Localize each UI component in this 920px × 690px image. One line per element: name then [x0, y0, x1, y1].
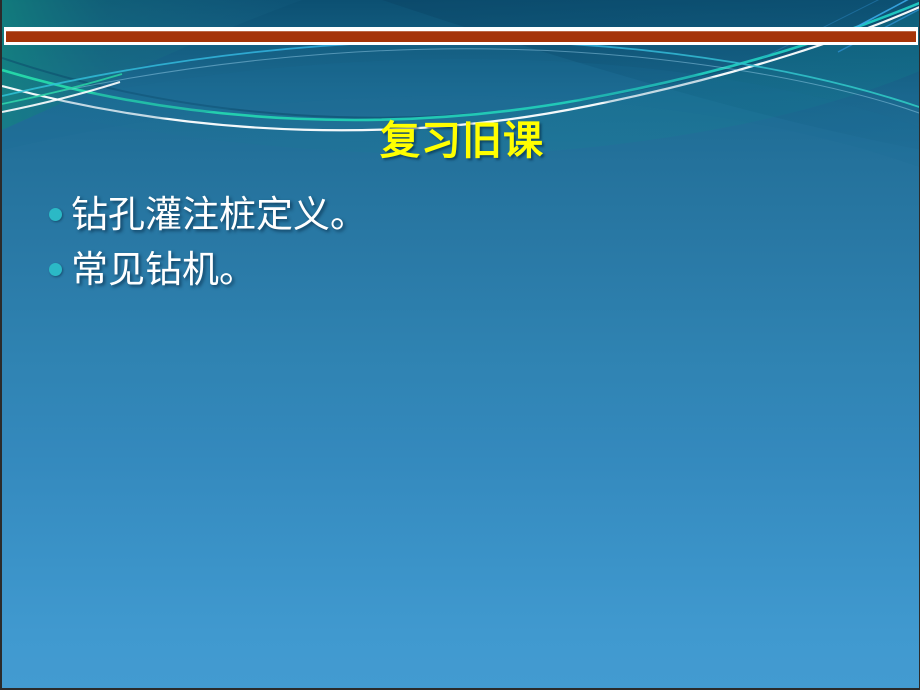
background-curve-green	[2, 2, 920, 120]
background-wedge-teal-left	[2, 0, 302, 130]
background-tail-green	[2, 74, 122, 104]
slide-title-text: 复习旧课	[380, 116, 544, 166]
background-curve-dark	[2, 4, 920, 118]
header-rule-bar	[4, 27, 918, 45]
list-item-label: 常见钻机。	[71, 247, 256, 294]
background-tail-white	[2, 82, 120, 112]
disc-bullet-icon	[49, 208, 62, 221]
presentation-slide: 复习旧课 钻孔灌注桩定义。 常见钻机。	[0, 0, 920, 690]
slide-background-artwork	[2, 0, 920, 690]
background-curve-cyan-soft	[2, 49, 920, 114]
background-curve-white	[2, 6, 920, 130]
list-item: 钻孔灌注桩定义。	[46, 192, 866, 239]
disc-bullet-icon	[49, 263, 62, 276]
background-curve-cyan	[2, 41, 920, 108]
slide-body-list: 钻孔灌注桩定义。 常见钻机。	[46, 192, 866, 302]
list-item: 常见钻机。	[46, 247, 866, 294]
slide-title: 复习旧课	[2, 116, 920, 166]
list-item-label: 钻孔灌注桩定义。	[71, 192, 367, 239]
